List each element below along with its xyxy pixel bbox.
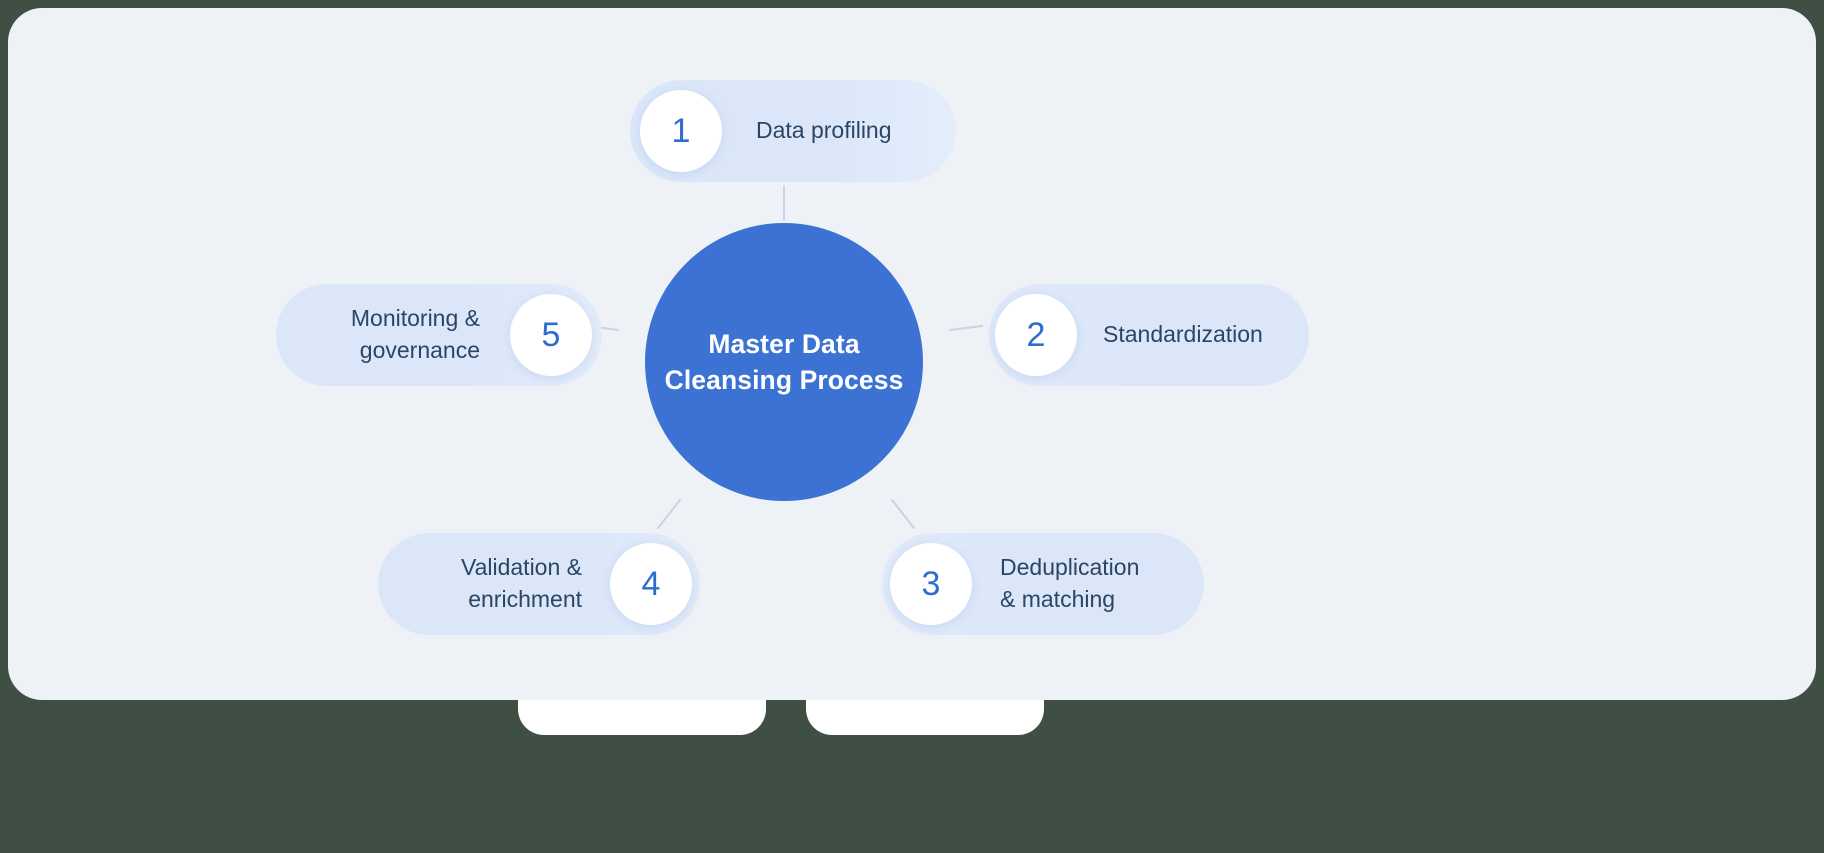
step-number-2: 2 xyxy=(995,294,1077,376)
step-number-3: 3 xyxy=(890,543,972,625)
step-pill-2[interactable]: 2 Standardization xyxy=(989,284,1309,386)
step-label-4: Validation & enrichment xyxy=(461,552,582,615)
step-pill-1[interactable]: 1 Data profiling xyxy=(630,80,956,182)
step-pill-3[interactable]: 3 Deduplication & matching xyxy=(882,533,1204,635)
step-label-2: Standardization xyxy=(1103,319,1263,351)
step-pill-5[interactable]: Monitoring & governance 5 xyxy=(276,284,602,386)
step-label-1: Data profiling xyxy=(756,115,892,147)
step-label-5: Monitoring & governance xyxy=(351,303,480,366)
step-number-1: 1 xyxy=(640,90,722,172)
step-label-3: Deduplication & matching xyxy=(1000,552,1139,615)
connector-to-step-4 xyxy=(658,500,680,528)
step-number-4: 4 xyxy=(610,543,692,625)
connector-to-step-3 xyxy=(892,500,914,528)
step-number-5: 5 xyxy=(510,294,592,376)
connector-to-step-2 xyxy=(950,326,982,330)
diagram-card: Master Data Cleansing Process 1 Data pro… xyxy=(8,8,1816,700)
step-pill-4[interactable]: Validation & enrichment 4 xyxy=(378,533,700,635)
center-hub-label: Master Data Cleansing Process xyxy=(647,326,922,398)
screenshot-stage: Master Data Cleansing Process 1 Data pro… xyxy=(0,0,1824,853)
center-hub: Master Data Cleansing Process xyxy=(645,223,923,501)
